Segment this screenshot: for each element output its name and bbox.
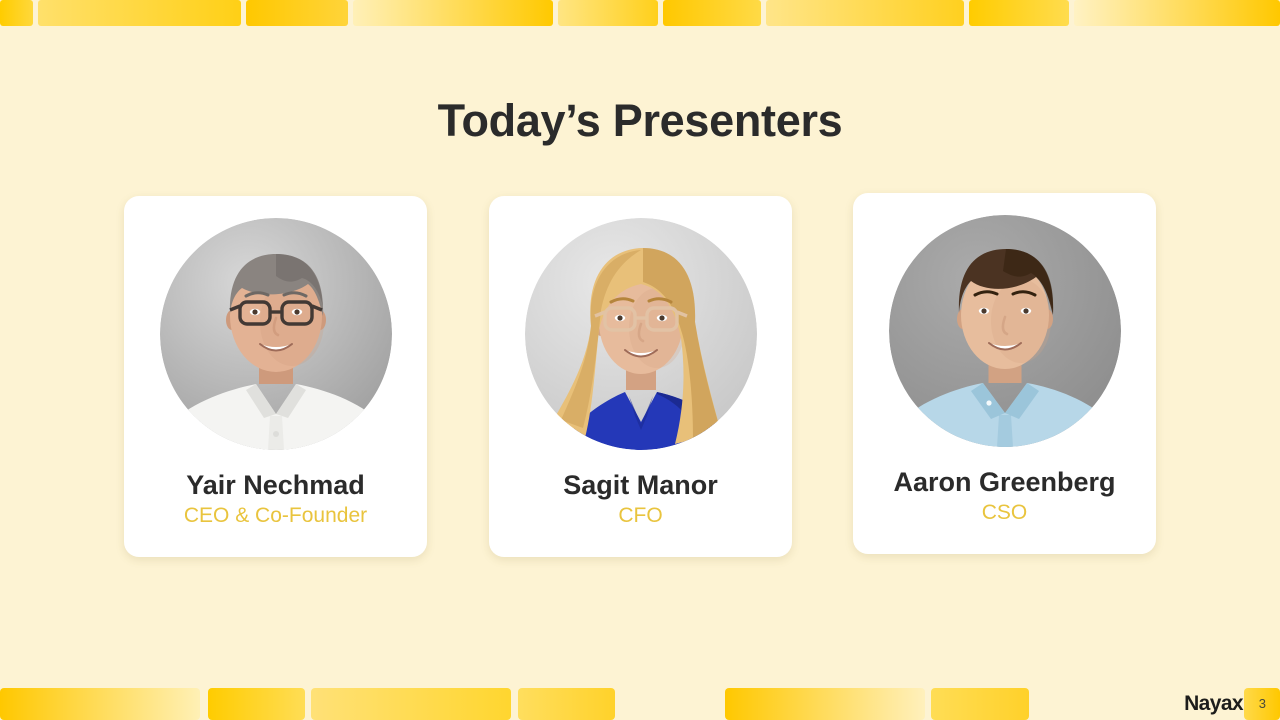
- top-decorative-bar: [0, 0, 1280, 26]
- top-bar-segment: [766, 0, 964, 26]
- presenter-name: Aaron Greenberg: [853, 465, 1156, 499]
- presenter-card: Aaron GreenbergCSO: [853, 193, 1156, 554]
- bottom-bar-segment: [518, 688, 615, 720]
- page-number: 3: [1259, 695, 1266, 713]
- presenter-role: CFO: [489, 502, 792, 530]
- presentation-slide: Today’s Presenters: [0, 0, 1280, 720]
- bottom-decorative-bar: [0, 688, 1280, 720]
- top-bar-segment: [663, 0, 761, 26]
- nayax-logo: Nayax: [1184, 691, 1243, 717]
- top-bar-segment: [38, 0, 241, 26]
- bottom-bar-segment: [622, 688, 720, 720]
- bottom-bar-segment: [0, 688, 200, 720]
- bottom-bar-segment: [311, 688, 511, 720]
- presenter-card: Sagit ManorCFO: [489, 196, 792, 557]
- top-bar-segment: [969, 0, 1069, 26]
- portrait-yair-nechmad: [160, 218, 392, 450]
- bottom-bar-segment: [725, 688, 925, 720]
- top-bar-segment: [353, 0, 553, 26]
- top-bar-segment: [1074, 0, 1280, 26]
- bottom-bar-segment: [931, 688, 1029, 720]
- presenter-role: CSO: [853, 499, 1156, 527]
- presenter-name: Sagit Manor: [489, 468, 792, 502]
- presenter-role: CEO & Co-Founder: [124, 502, 427, 530]
- top-bar-segment: [246, 0, 348, 26]
- presenter-card: Yair NechmadCEO & Co-Founder: [124, 196, 427, 557]
- page-title: Today’s Presenters: [0, 93, 1280, 149]
- top-bar-segment: [0, 0, 33, 26]
- portrait-sagit-manor: [525, 218, 757, 450]
- bottom-bar-segment: [208, 688, 305, 720]
- presenter-name: Yair Nechmad: [124, 468, 427, 502]
- top-bar-segment: [558, 0, 658, 26]
- portrait-aaron-greenberg: [889, 215, 1121, 447]
